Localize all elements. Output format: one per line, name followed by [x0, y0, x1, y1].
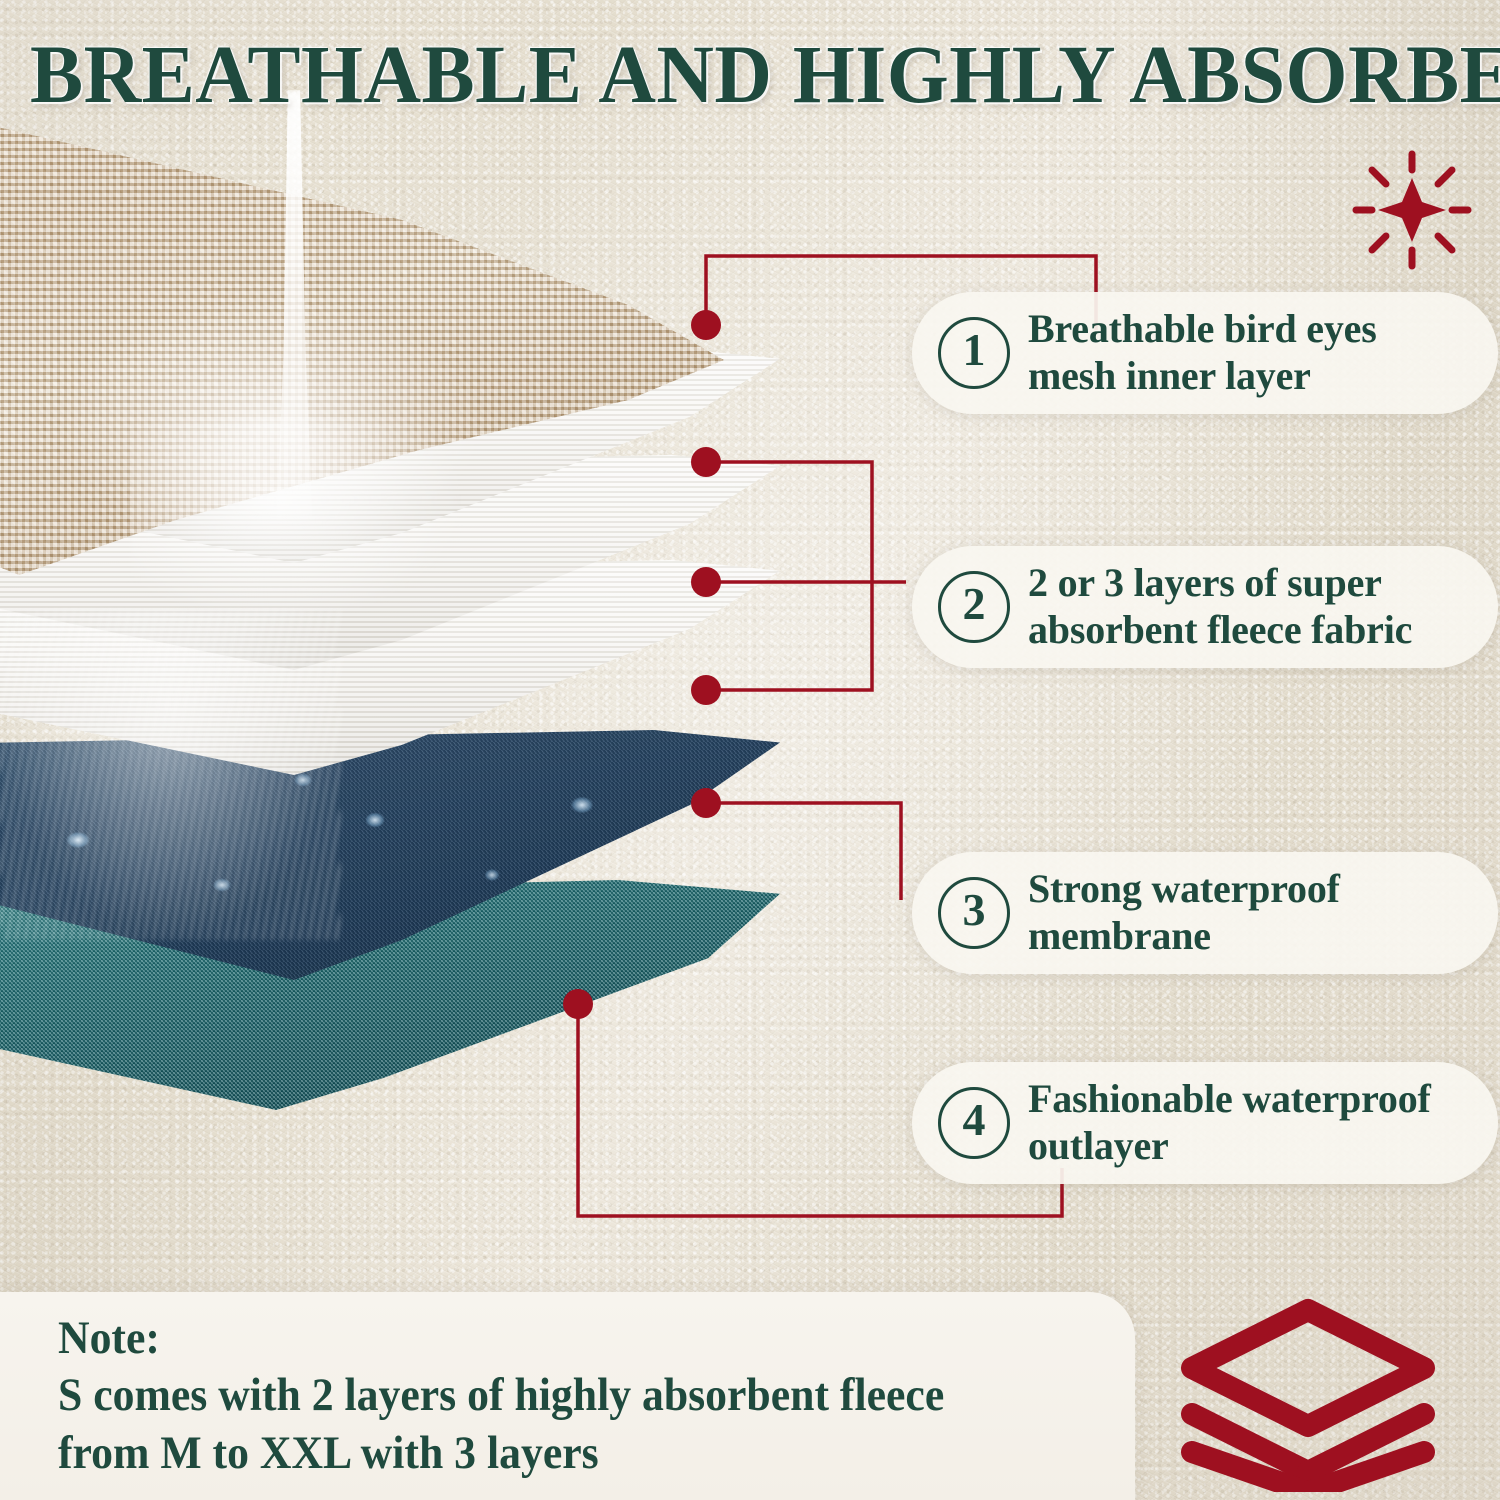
note-text: Note: S comes with 2 layers of highly ab… [58, 1310, 1025, 1482]
page-title: BREATHABLE AND HIGHLY ABSORBENT [30, 26, 1470, 122]
leader-dot-2a [691, 447, 721, 477]
callout-2[interactable]: 2 2 or 3 layers of super absorbent fleec… [912, 546, 1498, 668]
leader-dot-2b [691, 567, 721, 597]
layers-stack-icon [1178, 1296, 1438, 1492]
leader-dot-3 [691, 788, 721, 818]
product-infographic: BREATHABLE AND HIGHLY ABSORBENT [0, 0, 1500, 1500]
sparkle-icon [1352, 150, 1472, 270]
callout-3-label: Strong waterproof membrane [1028, 866, 1340, 960]
callout-1-label: Breathable bird eyes mesh inner layer [1028, 306, 1377, 400]
callout-1[interactable]: 1 Breathable bird eyes mesh inner layer [912, 292, 1498, 414]
callout-3[interactable]: 3 Strong waterproof membrane [912, 852, 1498, 974]
callout-4-label: Fashionable waterproof outlayer [1028, 1076, 1431, 1170]
callout-2-number: 2 [938, 571, 1010, 643]
callout-4-number: 4 [938, 1087, 1010, 1159]
leader-dot-4 [563, 989, 593, 1019]
callout-4[interactable]: 4 Fashionable waterproof outlayer [912, 1062, 1498, 1184]
callout-3-number: 3 [938, 877, 1010, 949]
leader-line-2-bracket [706, 462, 872, 690]
leader-dots [563, 310, 721, 1019]
callout-2-label: 2 or 3 layers of super absorbent fleece … [1028, 560, 1412, 654]
note-panel: Note: S comes with 2 layers of highly ab… [0, 1292, 1135, 1500]
callout-1-number: 1 [938, 317, 1010, 389]
leader-line-3 [706, 803, 901, 900]
leader-dot-1 [691, 310, 721, 340]
leader-lines [0, 0, 1500, 1500]
leader-dot-2c [691, 675, 721, 705]
